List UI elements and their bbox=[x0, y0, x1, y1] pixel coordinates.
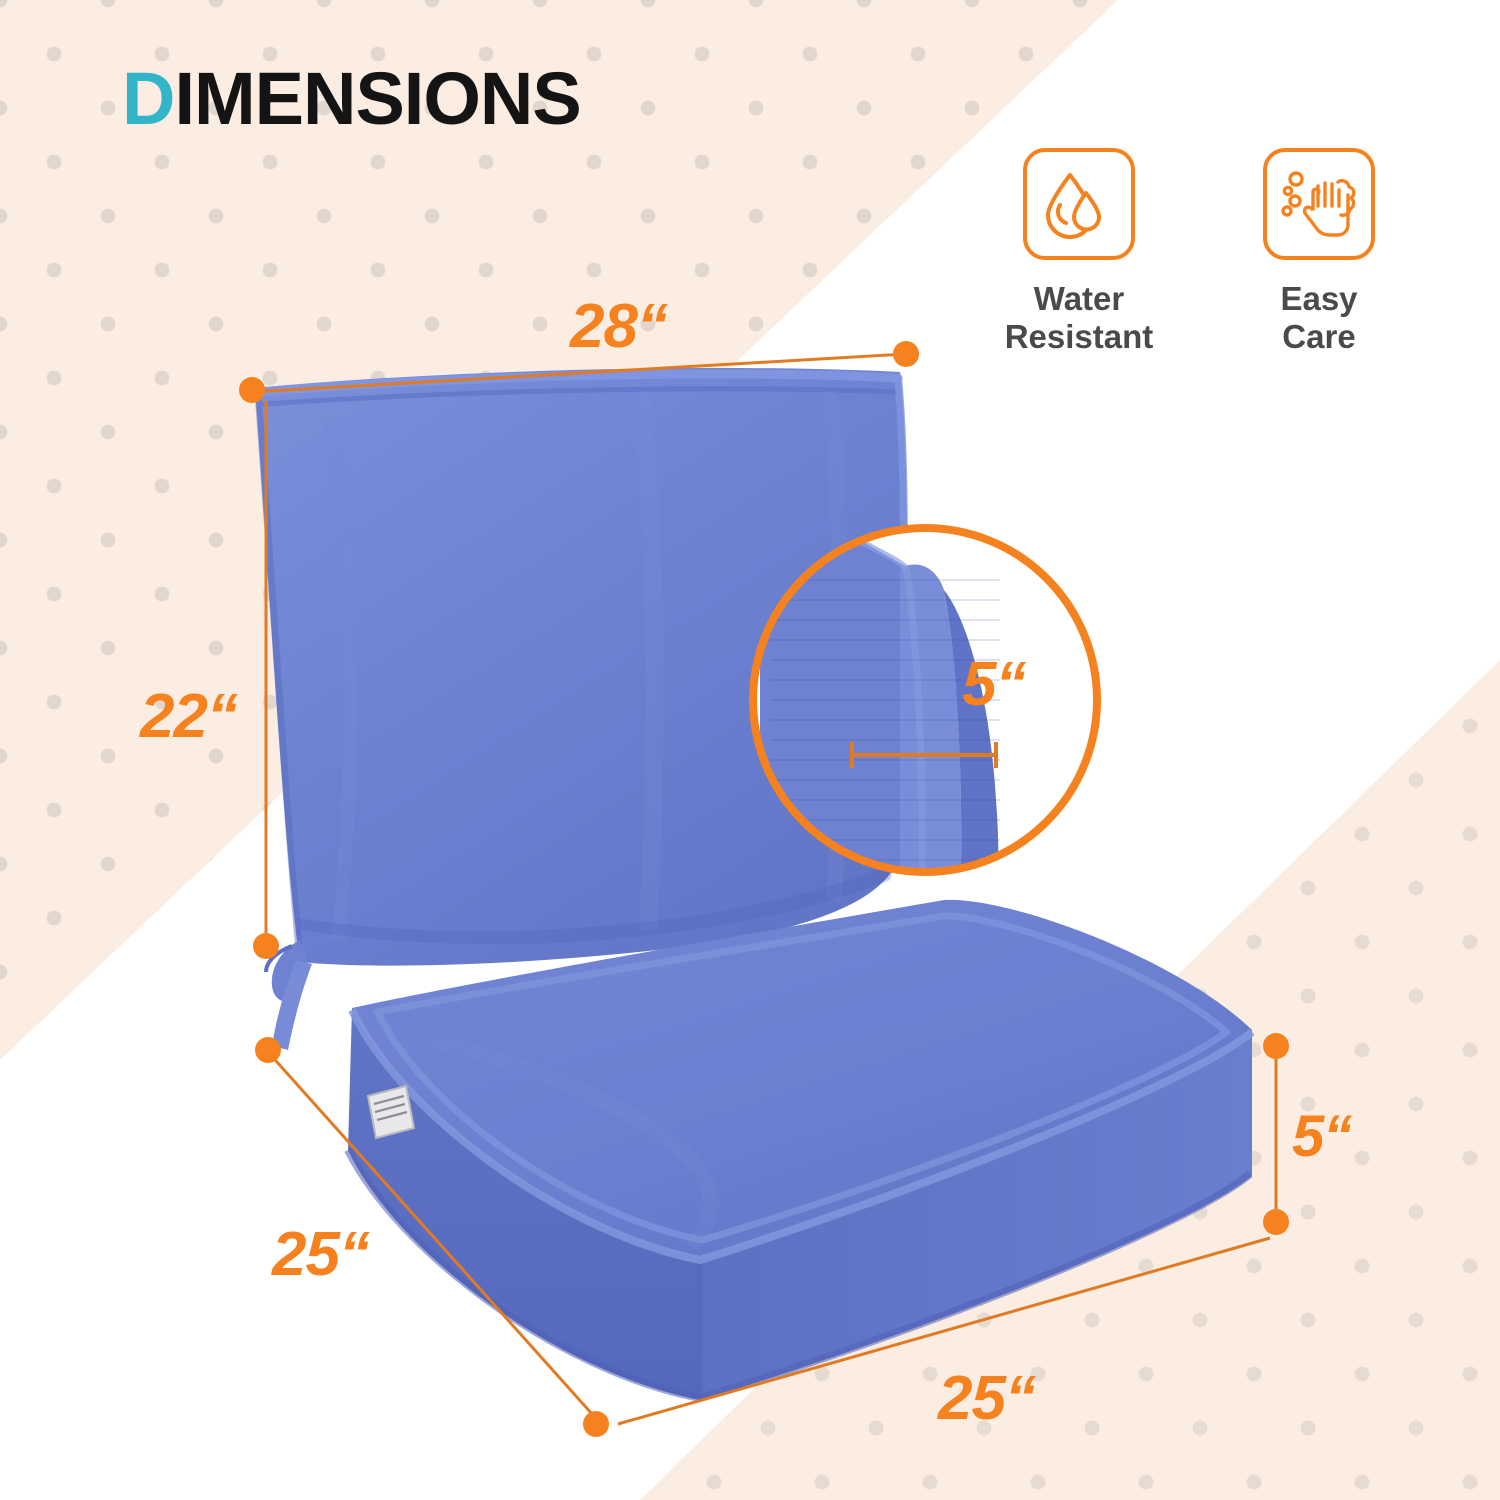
dimension-dot-mid-left bbox=[253, 933, 279, 959]
infographic-canvas: DIMENSIONS Water Resistant bbox=[0, 0, 1500, 1500]
dimension-label-5in-thickness: 5“ bbox=[1292, 1108, 1351, 1166]
dimension-label-22in: 22“ bbox=[140, 686, 237, 748]
dimension-label-5in-detail: 5“ bbox=[962, 654, 1025, 716]
dimension-dot-seat-left bbox=[255, 1037, 281, 1063]
dimension-dot-bottom-front bbox=[583, 1411, 609, 1437]
dimension-dot-top-right bbox=[893, 341, 919, 367]
dimension-dot-top-left bbox=[239, 377, 265, 403]
dimension-label-28in: 28“ bbox=[570, 296, 667, 358]
dimension-label-25in-width: 25“ bbox=[938, 1368, 1035, 1430]
dimension-dots-and-labels: 28“ 22“ 25“ 25“ 5“ 5“ bbox=[0, 0, 1500, 1500]
dimension-dot-right-top bbox=[1263, 1033, 1289, 1059]
dimension-dot-right-bottom bbox=[1263, 1209, 1289, 1235]
dimension-label-25in-depth: 25“ bbox=[272, 1224, 369, 1286]
